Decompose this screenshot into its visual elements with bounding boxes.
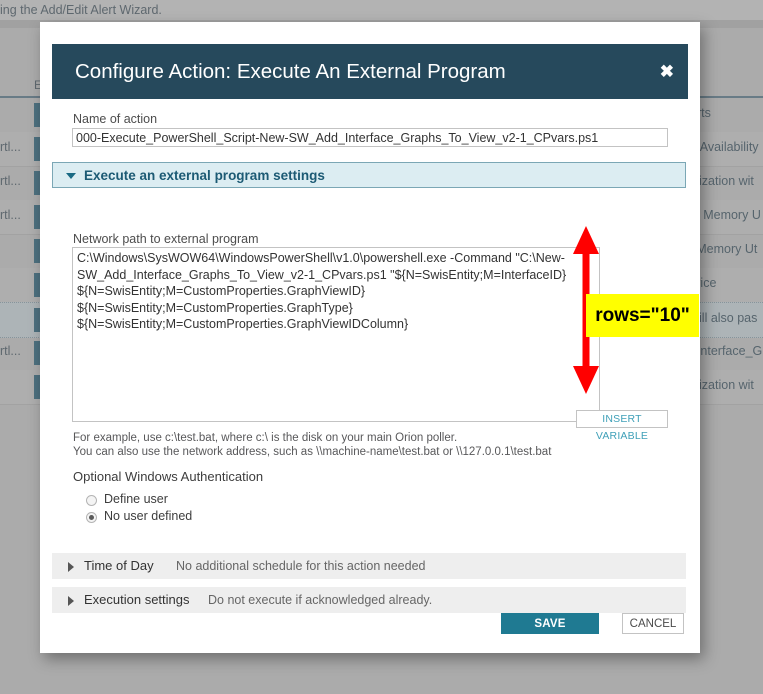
insert-variable-button[interactable]: INSERT VARIABLE [576,410,668,428]
configure-action-modal: Configure Action: Execute An External Pr… [40,22,700,653]
name-of-action-label: Name of action [73,112,157,126]
save-changes-button[interactable]: SAVE CHANGES [501,613,599,634]
section-title: Execution settings [84,587,190,613]
path-hint-line-2: You can also use the network address, su… [73,446,551,458]
annotation-label: rows="10" [586,294,699,337]
chevron-right-icon [68,596,74,606]
network-path-label: Network path to external program [73,232,259,246]
cancel-button[interactable]: CANCEL [622,613,684,634]
radio-label: Define user [104,492,168,506]
chevron-right-icon [68,562,74,572]
section-header-time-of-day[interactable]: Time of Day No additional schedule for t… [52,553,686,579]
section-summary: No additional schedule for this action n… [176,553,425,579]
section-title: Execute an external program settings [84,163,325,188]
section-header-execute-settings[interactable]: Execute an external program settings [52,162,686,188]
optional-windows-auth-label: Optional Windows Authentication [73,469,263,484]
radio-icon [86,495,97,506]
chevron-down-icon [66,173,76,179]
radio-icon-selected [86,512,97,523]
modal-header: Configure Action: Execute An External Pr… [52,44,688,99]
page-title: Configure Action: Execute An External Pr… [75,44,506,99]
name-of-action-input[interactable] [72,128,668,147]
radio-label: No user defined [104,509,192,523]
section-summary: Do not execute if acknowledged already. [208,587,432,613]
network-path-textarea[interactable] [72,247,600,422]
close-icon[interactable]: ✖ [660,44,674,99]
path-hint-line-1: For example, use c:\test.bat, where c:\ … [73,432,457,444]
section-header-execution-settings[interactable]: Execution settings Do not execute if ack… [52,587,686,613]
section-title: Time of Day [84,553,154,579]
